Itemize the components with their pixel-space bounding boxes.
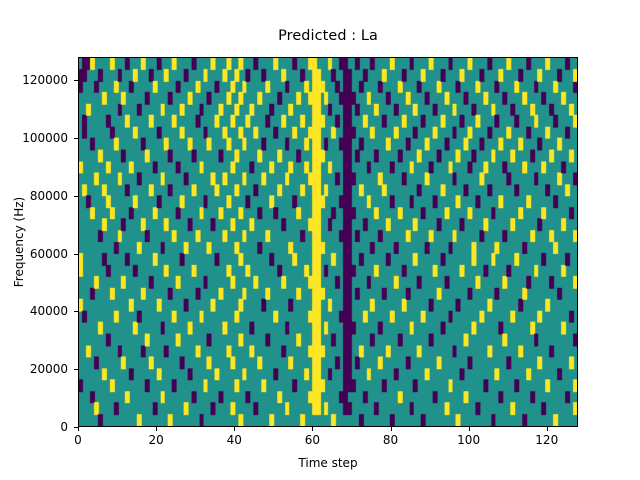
x-tick-label: 80	[383, 433, 398, 447]
heatmap-canvas	[79, 58, 577, 426]
x-tick-mark	[78, 427, 79, 431]
y-tick-mark	[74, 254, 78, 255]
x-axis-label-text: Time step	[298, 456, 357, 470]
y-tick-mark	[74, 80, 78, 81]
x-tick-label: 20	[148, 433, 163, 447]
x-tick-mark	[391, 427, 392, 431]
y-tick-mark	[74, 138, 78, 139]
y-tick-label: 100000	[22, 131, 68, 145]
x-tick-label: 100	[457, 433, 480, 447]
y-tick-label: 20000	[30, 362, 68, 376]
x-tick-mark	[312, 427, 313, 431]
plot-title-text: Predicted : La	[278, 28, 378, 44]
y-tick-label: 60000	[30, 247, 68, 261]
y-tick-label: 120000	[22, 73, 68, 87]
y-tick-mark	[74, 196, 78, 197]
y-tick-label: 0	[60, 420, 68, 434]
heatmap-axes	[78, 57, 578, 427]
x-tick-mark	[234, 427, 235, 431]
x-tick-label: 0	[74, 433, 82, 447]
matplotlib-figure: Predicted : La Frequency (Hz) Time step …	[0, 0, 640, 480]
x-tick-mark	[156, 427, 157, 431]
x-axis-label: Time step	[78, 456, 578, 470]
y-tick-mark	[74, 369, 78, 370]
y-tick-label: 80000	[30, 189, 68, 203]
x-tick-label: 40	[227, 433, 242, 447]
x-tick-mark	[469, 427, 470, 431]
y-tick-label: 40000	[30, 304, 68, 318]
x-tick-label: 120	[535, 433, 558, 447]
y-axis-label-text: Frequency (Hz)	[12, 197, 26, 288]
x-tick-mark	[547, 427, 548, 431]
plot-title: Predicted : La	[0, 28, 640, 44]
x-tick-label: 60	[305, 433, 320, 447]
y-tick-mark	[74, 311, 78, 312]
